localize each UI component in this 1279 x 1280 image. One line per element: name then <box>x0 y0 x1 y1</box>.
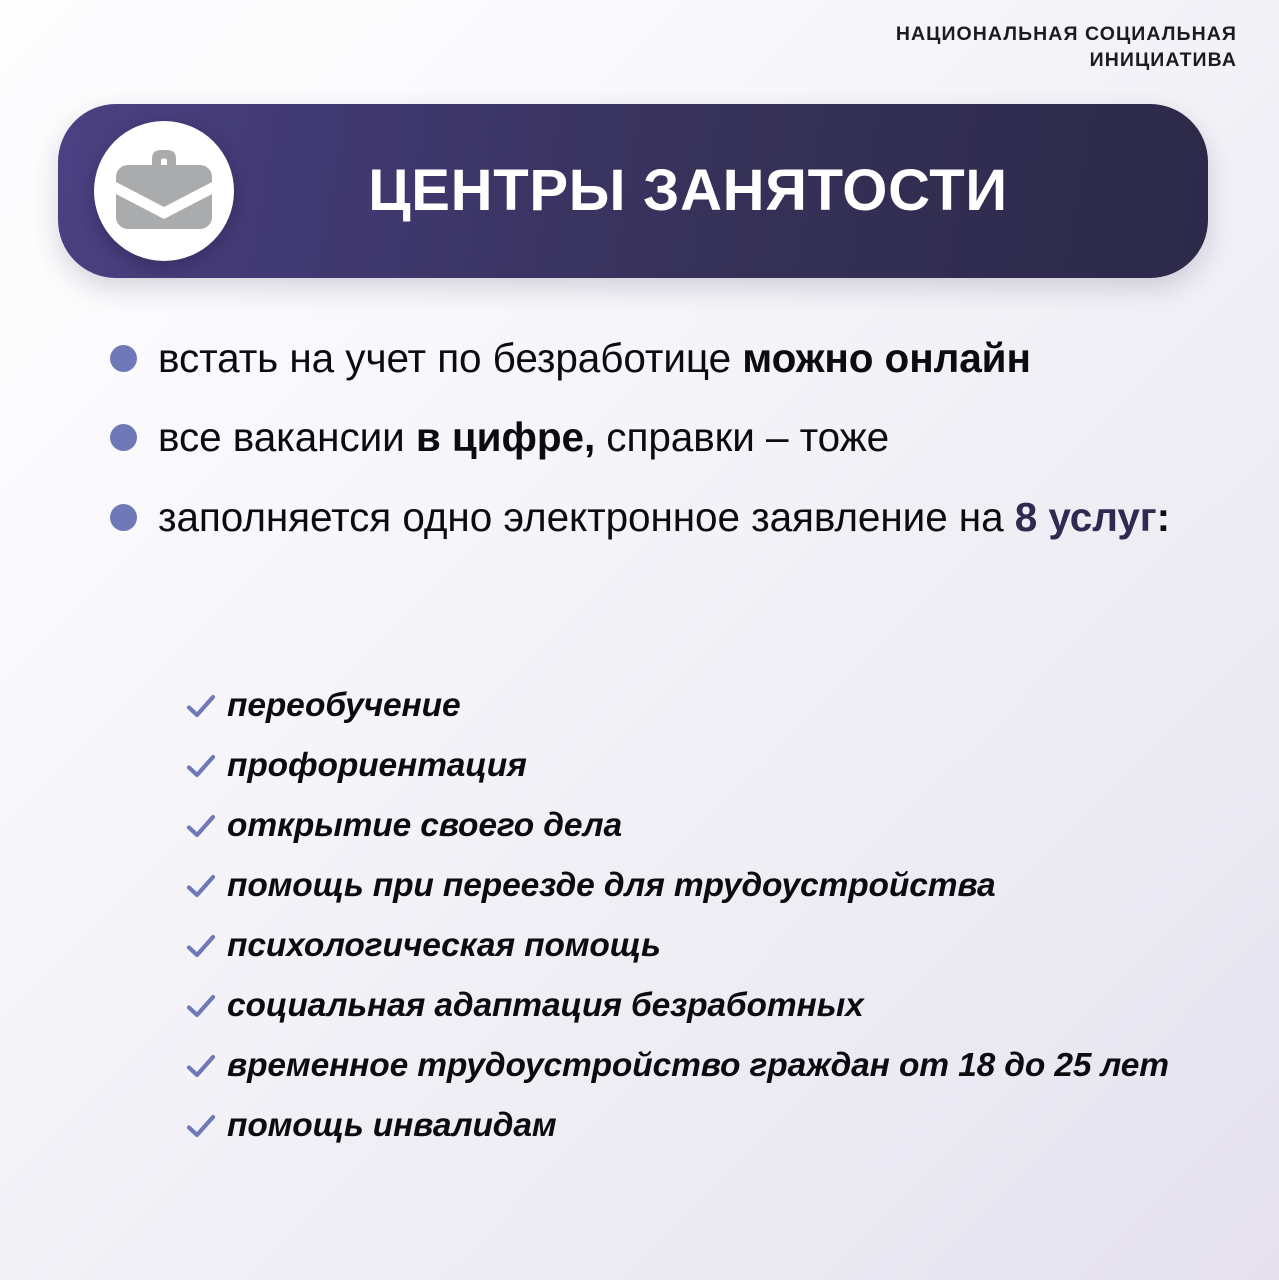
service-temp-employment-label: временное трудоустройство граждан от 18 … <box>227 1044 1169 1088</box>
title-banner: ЦЕНТРЫ ЗАНЯТОСТИ <box>58 104 1208 278</box>
bullet-single-application-seg-0: заполняется одно электронное заявление н… <box>158 494 1015 540</box>
bullet-single-application: заполняется одно электронное заявление н… <box>110 491 1200 544</box>
check-icon <box>186 1052 216 1082</box>
service-psychological-help: психологическая помощь <box>186 924 1246 968</box>
bullet-registration-online: встать на учет по безработице можно онла… <box>110 332 1200 385</box>
bullet-dot-icon <box>110 424 137 451</box>
check-icon <box>186 992 216 1022</box>
bullet-vacancies-digital-text: все вакансии в цифре, справки – тоже <box>158 411 889 464</box>
service-retraining: переобучение <box>186 684 1246 728</box>
service-career-guidance-label: профориентация <box>227 744 527 788</box>
brand-line-2: ИНИЦИАТИВА <box>896 48 1237 74</box>
check-icon <box>186 1112 216 1142</box>
service-own-business-label: открытие своего дела <box>227 804 622 848</box>
bullet-registration-online-text: встать на учет по безработице можно онла… <box>158 332 1031 385</box>
service-relocation-help: помощь при переезде для трудоустройства <box>186 864 1246 908</box>
bullet-vacancies-digital-seg-0: все вакансии <box>158 414 416 460</box>
check-icon <box>186 692 216 722</box>
service-disabled-help: помощь инвалидам <box>186 1104 1246 1148</box>
bullet-single-application-seg-2: : <box>1157 494 1170 540</box>
brand-line-1: НАЦИОНАЛЬНАЯ СОЦИАЛЬНАЯ <box>896 22 1237 48</box>
service-relocation-help-label: помощь при переезде для трудоустройства <box>227 864 996 908</box>
service-retraining-label: переобучение <box>227 684 460 728</box>
service-disabled-help-label: помощь инвалидам <box>227 1104 557 1148</box>
check-icon <box>186 812 216 842</box>
service-career-guidance: профориентация <box>186 744 1246 788</box>
brand-header: НАЦИОНАЛЬНАЯ СОЦИАЛЬНАЯ ИНИЦИАТИВА <box>896 22 1237 73</box>
bullet-vacancies-digital-seg-1: в цифре, <box>416 414 595 460</box>
bullet-list: встать на учет по безработице можно онла… <box>110 332 1200 544</box>
service-temp-employment: временное трудоустройство граждан от 18 … <box>186 1044 1246 1088</box>
bullet-vacancies-digital-seg-2: справки – тоже <box>595 414 889 460</box>
check-icon <box>186 752 216 782</box>
service-psychological-help-label: психологическая помощь <box>227 924 661 968</box>
services-checklist: переобучениепрофориентацияоткрытие своег… <box>186 684 1246 1148</box>
service-social-adaptation-label: социальная адаптация безработных <box>227 984 864 1028</box>
bullet-dot-icon <box>110 504 137 531</box>
bullet-single-application-text: заполняется одно электронное заявление н… <box>158 491 1170 544</box>
briefcase-icon <box>112 145 216 237</box>
bullet-registration-online-seg-1: можно онлайн <box>742 335 1031 381</box>
service-own-business: открытие своего дела <box>186 804 1246 848</box>
briefcase-icon-circle <box>94 121 234 261</box>
bullet-vacancies-digital: все вакансии в цифре, справки – тоже <box>110 411 1200 464</box>
service-social-adaptation: социальная адаптация безработных <box>186 984 1246 1028</box>
check-icon <box>186 872 216 902</box>
bullet-single-application-seg-1: 8 услуг <box>1015 494 1157 540</box>
bullet-dot-icon <box>110 345 137 372</box>
bullet-registration-online-seg-0: встать на учет по безработице <box>158 335 742 381</box>
check-icon <box>186 932 216 962</box>
